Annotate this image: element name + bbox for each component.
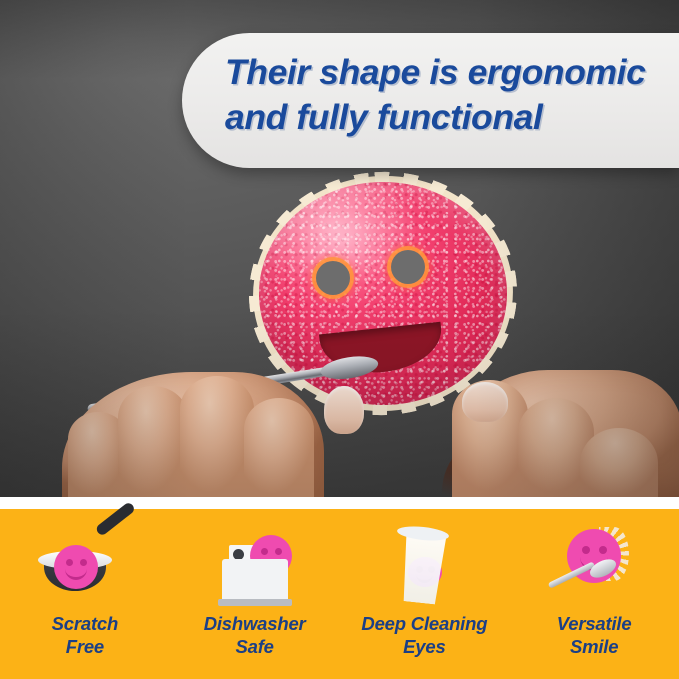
mini-sponge-eye <box>261 548 268 555</box>
feature-label: Deep Cleaning Eyes <box>361 613 487 658</box>
glass-body <box>397 529 450 605</box>
feature-versatile-smile: Versatile Smile <box>509 509 679 679</box>
finger <box>580 428 658 497</box>
fingernail <box>462 382 508 422</box>
mini-sponge-eye <box>582 546 590 554</box>
fingernail <box>324 386 364 434</box>
finger <box>244 398 314 497</box>
frying-pan-with-sponge-icon <box>32 521 138 607</box>
dishwasher-base <box>218 599 292 606</box>
finger <box>118 386 188 497</box>
sponge-with-spoon-in-smile-icon <box>541 521 647 607</box>
sponge-right-eye-hole <box>391 250 425 284</box>
spoon-bowl <box>319 353 380 383</box>
feature-deep-cleaning-eyes: Deep Cleaning Eyes <box>340 509 510 679</box>
dishwasher-with-sponge-icon <box>202 521 308 607</box>
finger <box>452 380 528 497</box>
sponge-left-eye-hole <box>316 261 350 295</box>
headline-banner: Their shape is ergonomic and fully funct… <box>182 33 679 168</box>
mini-sponge-eye <box>66 559 73 566</box>
product-photo: Their shape is ergonomic and fully funct… <box>0 0 679 497</box>
mini-sponge-eye <box>275 548 282 555</box>
mini-sponge-eye <box>80 559 87 566</box>
feature-dishwasher-safe: Dishwasher Safe <box>170 509 340 679</box>
mini-sponge-eye <box>599 546 607 554</box>
mini-sponge-mouth <box>65 567 87 580</box>
feature-label: Versatile Smile <box>557 613 632 658</box>
mini-sponge <box>54 545 98 589</box>
feature-scratch-free: Scratch Free <box>0 509 170 679</box>
finger <box>180 376 254 497</box>
feature-strip: Scratch Free Dishwasher Safe <box>0 509 679 679</box>
feature-label: Scratch Free <box>52 613 118 658</box>
headline-text: Their shape is ergonomic and fully funct… <box>225 50 669 140</box>
glass-rim <box>397 524 450 542</box>
product-infographic: Their shape is ergonomic and fully funct… <box>0 0 679 679</box>
right-hand <box>452 370 679 497</box>
feature-label: Dishwasher Safe <box>204 613 306 658</box>
section-divider <box>0 497 679 509</box>
drinking-glass-with-sponge-icon <box>371 521 477 607</box>
dishwasher-body <box>222 559 288 603</box>
